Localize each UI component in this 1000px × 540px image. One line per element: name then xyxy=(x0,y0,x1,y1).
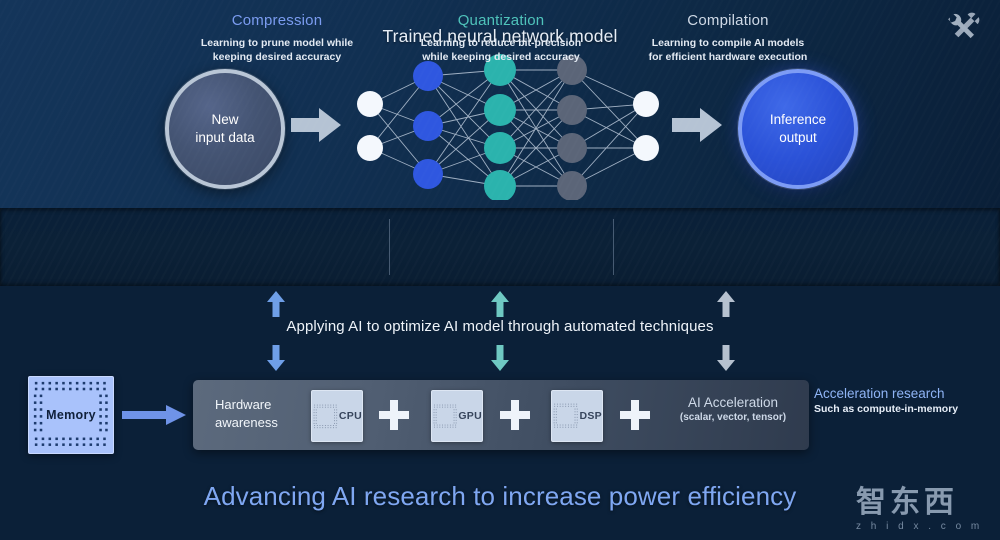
watermark-logo: 智东西 z h i d x . c o m xyxy=(856,488,986,532)
divider-2 xyxy=(613,219,614,275)
plus-icon-3 xyxy=(620,400,650,430)
inference-line1: Inference xyxy=(770,111,826,129)
gpu-label: GPU xyxy=(458,410,482,422)
up-arrow-compilation-icon xyxy=(716,291,736,317)
up-arrow-quantization-icon xyxy=(490,291,510,317)
up-arrow-compression-icon xyxy=(266,291,286,317)
acceleration-research-subtitle: Such as compute-in-memory xyxy=(814,403,1000,415)
inference-line2: output xyxy=(770,129,826,147)
gpu-block[interactable]: GPU xyxy=(431,390,483,442)
hardware-awareness-label: Hardware awareness xyxy=(215,396,278,432)
ai-acceleration-group: AI Acceleration (scalar, vector, tensor) xyxy=(663,395,803,423)
new-input-line1: New xyxy=(195,111,254,129)
footer-headline: Advancing AI research to increase power … xyxy=(0,481,1000,512)
slide-root: Trained neural network model New input d… xyxy=(0,0,1000,540)
chip-pads-icon xyxy=(432,403,458,429)
watermark-en: z h i d x . c o m xyxy=(856,521,986,532)
acceleration-research-group: Acceleration research Such as compute-in… xyxy=(814,386,1000,415)
chip-pads-icon xyxy=(552,402,580,430)
watermark-cn: 智东西 xyxy=(856,488,986,518)
technique-title: Quantization xyxy=(386,12,616,29)
down-arrow-compression-icon xyxy=(266,345,286,371)
dsp-block[interactable]: DSP xyxy=(551,390,603,442)
plus-icon-2 xyxy=(500,400,530,430)
technique-title: Compilation xyxy=(610,12,846,29)
technique-compilation[interactable]: Compilation Learning to compile AI model… xyxy=(610,12,846,65)
arrow-input-to-network-icon xyxy=(291,108,341,142)
hardware-bar: Hardware awareness CPU xyxy=(193,380,809,450)
technique-desc-line1: Learning to reduce bit-precision xyxy=(421,37,581,49)
inference-output-node: Inference output xyxy=(738,69,858,189)
ai-acceleration-title: AI Acceleration xyxy=(663,395,803,410)
memory-chip[interactable]: Memory xyxy=(28,376,114,454)
dsp-label: DSP xyxy=(580,410,603,422)
new-input-line2: input data xyxy=(195,129,254,147)
technique-desc-line1: Learning to compile AI models xyxy=(652,37,804,49)
memory-to-hardware-arrow-icon xyxy=(122,404,186,426)
chip-pads-icon xyxy=(312,403,339,430)
technique-desc-line2: for efficient hardware execution xyxy=(649,51,808,63)
technique-compression[interactable]: Compression Learning to prune model whil… xyxy=(160,12,394,65)
down-arrow-quantization-icon xyxy=(490,345,510,371)
acceleration-research-title: Acceleration research xyxy=(814,386,1000,401)
ai-acceleration-subtitle: (scalar, vector, tensor) xyxy=(663,412,803,423)
divider-1 xyxy=(389,219,390,275)
down-arrow-compilation-icon xyxy=(716,345,736,371)
mid-caption: Applying AI to optimize AI model through… xyxy=(0,318,1000,335)
techniques-panel xyxy=(0,208,1000,286)
arrow-network-to-output-icon xyxy=(672,108,722,142)
cpu-block[interactable]: CPU xyxy=(311,390,363,442)
memory-chip-label: Memory xyxy=(46,408,96,422)
new-input-data-node: New input data xyxy=(165,69,285,189)
technique-desc-line1: Learning to prune model while xyxy=(201,37,353,49)
technique-desc-line2: keeping desired accuracy xyxy=(213,51,341,63)
hardware-awareness-line1: Hardware xyxy=(215,396,278,414)
technique-quantization[interactable]: Quantization Learning to reduce bit-prec… xyxy=(386,12,616,65)
cpu-label: CPU xyxy=(339,410,362,422)
wrench-hammer-icon[interactable] xyxy=(944,10,982,46)
technique-title: Compression xyxy=(160,12,394,29)
technique-desc-line2: while keeping desired accuracy xyxy=(422,51,580,63)
plus-icon-1 xyxy=(379,400,409,430)
neural-network-diagram xyxy=(350,52,670,200)
hardware-awareness-line2: awareness xyxy=(215,414,278,432)
